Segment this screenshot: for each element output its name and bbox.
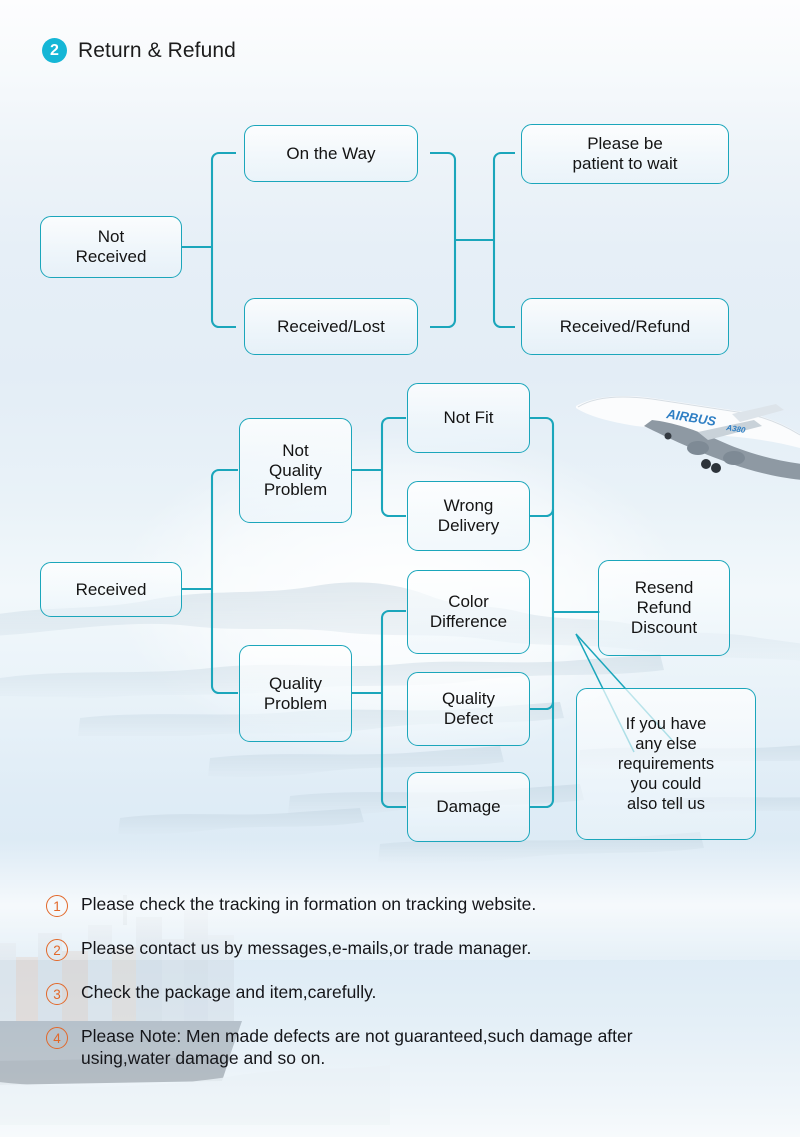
box-wrong-delivery[interactable]: Wrong Delivery: [407, 481, 530, 551]
airplane-graphic: AIRBUS A380: [548, 378, 800, 496]
svg-text:A380: A380: [725, 423, 747, 435]
note-number-badge: 3: [46, 983, 68, 1005]
box-quality-defect[interactable]: Quality Defect: [407, 672, 530, 746]
wire-brace-leaves: [530, 418, 553, 807]
box-resend-refund-discount[interactable]: Resend Refund Discount: [598, 560, 730, 656]
box-additional-requirements-callout[interactable]: If you have any else requirements you co…: [576, 688, 756, 840]
note-text: Please Note: Men made defects are not gu…: [81, 1025, 701, 1070]
section-header: 2 Return & Refund: [42, 38, 236, 63]
wire-stub-wrongdelivery: [530, 509, 553, 516]
wire-stub-qualitydefect: [530, 702, 553, 709]
promo-page: AIRBUS A380 2 Return & Refund: [0, 0, 800, 1137]
notes-list: 1 Please check the tracking in formation…: [46, 893, 758, 1090]
wire-bracket-notquality: [382, 418, 406, 516]
list-item: 2 Please contact us by messages,e-mails,…: [46, 937, 758, 961]
box-not-fit[interactable]: Not Fit: [407, 383, 530, 453]
box-received[interactable]: Received: [40, 562, 182, 617]
svg-text:AIRBUS: AIRBUS: [665, 406, 718, 429]
box-not-received[interactable]: Not Received: [40, 216, 182, 278]
note-number-badge: 1: [46, 895, 68, 917]
note-text: Please check the tracking in formation o…: [81, 893, 536, 915]
box-received-lost[interactable]: Received/Lost: [244, 298, 418, 355]
list-item: 4 Please Note: Men made defects are not …: [46, 1025, 758, 1070]
box-color-difference[interactable]: Color Difference: [407, 570, 530, 654]
page-title: Return & Refund: [78, 39, 236, 63]
box-not-quality-problem[interactable]: Not Quality Problem: [239, 418, 352, 523]
box-quality-problem[interactable]: Quality Problem: [239, 645, 352, 742]
list-item: 3 Check the package and item,carefully.: [46, 981, 758, 1005]
wire-bracket-outcomes-a: [494, 153, 515, 327]
note-number-badge: 2: [46, 939, 68, 961]
section-number-badge: 2: [42, 38, 67, 63]
note-number-badge: 4: [46, 1027, 68, 1049]
box-received-refund[interactable]: Received/Refund: [521, 298, 729, 355]
list-item: 1 Please check the tracking in formation…: [46, 893, 758, 917]
wire-bracket-collect-a: [430, 153, 455, 327]
note-text: Please contact us by messages,e-mails,or…: [81, 937, 531, 959]
box-please-be-patient[interactable]: Please be patient to wait: [521, 124, 729, 184]
box-damage[interactable]: Damage: [407, 772, 530, 842]
box-on-the-way[interactable]: On the Way: [244, 125, 418, 182]
note-text: Check the package and item,carefully.: [81, 981, 376, 1003]
wire-bracket-quality: [382, 611, 406, 807]
wire-bracket-received: [212, 470, 238, 693]
wire-bracket-notreceived: [212, 153, 236, 327]
